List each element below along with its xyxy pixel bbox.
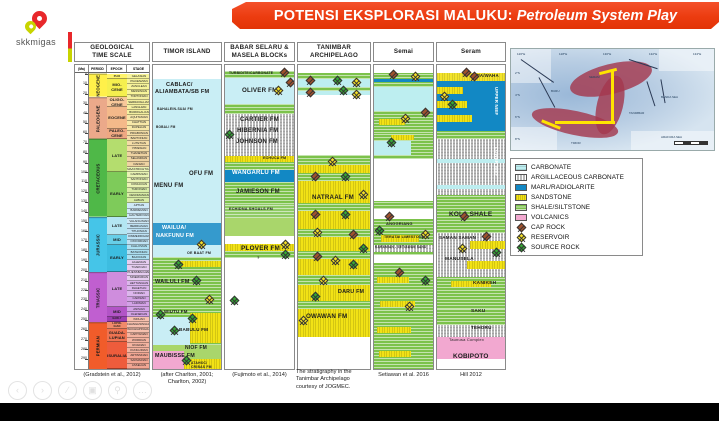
unit-label: UPPER NIEF	[494, 87, 499, 115]
seram-column: FUFA/WAHA UPPER NIEF LOWER NIEF KOLA SHA…	[436, 64, 506, 370]
unit-label: TERATAI LIMESTONE	[384, 235, 424, 239]
legend-label: SHALE/SILTSTONE	[531, 204, 590, 211]
timescale-tick	[85, 231, 88, 232]
unit-label: KOBIPOTO	[453, 353, 489, 360]
timescale-epoch: MID	[107, 235, 127, 245]
unit-label: BOBALI FM	[156, 125, 176, 129]
more-button[interactable]: …	[133, 381, 152, 400]
map-label: ARAFURA SEA	[661, 135, 682, 139]
title-main: POTENSI EKSPLORASI MALUKU:	[274, 8, 513, 24]
timescale-period: PERMIAN	[89, 322, 107, 369]
unit-label: ALIAMBATA/SB FM	[155, 89, 209, 95]
legend-symbol-source-rock-icon	[516, 242, 526, 252]
timescale-tick	[85, 113, 88, 114]
timescale-tick	[85, 143, 88, 144]
unit-label: ?	[257, 255, 260, 260]
accent-bar	[68, 32, 72, 62]
unit-label: HIBERNIA FM	[237, 128, 278, 134]
save-button[interactable]: ▣	[83, 381, 102, 400]
timescale-epoch: GUADA-LUPIAN	[107, 329, 127, 343]
timescale-period: CRETACEOUS	[89, 139, 107, 217]
legend-row: VOLCANICS	[515, 212, 638, 222]
timescale-epoch: EARLY	[107, 172, 127, 216]
timescale-tick	[85, 261, 88, 262]
unit-label: DARU FM	[338, 289, 364, 295]
map-label: 132°E	[649, 52, 657, 56]
map-label: BANDA SEA	[661, 95, 678, 99]
legend-symbol-group: CAP ROCKRESERVOIRSOURCE ROCK	[515, 222, 638, 252]
timescale-tick	[85, 94, 88, 95]
timescale-epochs: PLIOMIO-CENEOLIGO-CENEEOCENEPALEO-CENELA…	[107, 65, 127, 369]
unit-label: WIUTU FM	[164, 309, 188, 314]
slide-title-banner: POTENSI EKSPLORASI MALUKU: Petroleum Sys…	[232, 2, 719, 29]
unit-label: NATRAAL FM	[312, 194, 354, 201]
timescale-period: NEOGENE	[89, 74, 107, 97]
timescale-epoch: PALEO-CENE	[107, 129, 127, 139]
timescale-period: PALEOGENE	[89, 97, 107, 139]
timescale-periods: NEOGENEPALEOGENECRETACEOUSJURASSICTRIASS…	[89, 65, 107, 369]
legend-row: SOURCE ROCK	[515, 242, 638, 252]
legend-symbol-reservoir-icon	[516, 232, 526, 242]
map-label: 2°S	[515, 71, 520, 75]
timescale-stages: GELASIANPIACENZIANZANCLEANMESSINIANTORTO…	[127, 65, 150, 369]
unit-label: OWAWAN FM	[306, 313, 347, 320]
timescale-tick	[85, 251, 88, 252]
logo-pins	[10, 10, 62, 36]
pen-button[interactable]: ∕	[58, 381, 77, 400]
timescale-tick	[85, 84, 88, 85]
unit-label: WANGARLU FM	[232, 170, 280, 176]
babar-selaru-column: TURBIDITE/CARBONATE OLIVER FM CARTIER FM…	[224, 64, 295, 370]
timescale-stage: ASSELIAN	[127, 364, 150, 369]
legend-label: SANDSTONE	[531, 194, 572, 201]
unit-label: LOWER NIEF	[494, 147, 499, 177]
legend-row: ARGILLACEOUS CARBONATE	[515, 172, 638, 182]
map-shelf	[659, 49, 715, 71]
timescale-tick	[85, 281, 88, 282]
timescale-tick	[85, 182, 88, 183]
timescale-tick	[85, 133, 88, 134]
timescale-tick	[85, 212, 88, 213]
title-italic: Petroleum System Play	[517, 8, 677, 24]
unit-label: NAKFUNU FM	[156, 233, 194, 239]
timescale-period: JURASSIC	[89, 217, 107, 272]
unit-label: MENU FM	[154, 183, 183, 189]
legend-label: SOURCE ROCK	[531, 244, 580, 251]
map-label: 126°E	[517, 52, 525, 56]
legend-swatch	[515, 194, 527, 201]
map-label: 6°S	[515, 115, 520, 119]
timescale-axis: 0102030405060708090100110120130140150160…	[75, 65, 89, 369]
regional-location-map: 126°E128°E130°E132°E134°E2°S4°S6°S8°SSER…	[510, 48, 715, 151]
timescale-tick	[85, 320, 88, 321]
legend-swatch	[515, 164, 527, 171]
column-header-babar: BABAR SELARU &MASELA BLOCKs	[224, 42, 295, 62]
timescale-epoch: EOCENE	[107, 107, 127, 129]
unit-label: BAHALEIN-SUAI FM	[157, 107, 193, 111]
column-header-tanimbar: TANIMBARARCHIPELAGO	[297, 42, 371, 62]
legend-swatch	[515, 174, 527, 181]
unit-label: TEHORU	[471, 325, 492, 330]
map-label: 130°E	[603, 52, 611, 56]
timescale-epoch: EARLY	[107, 245, 127, 272]
unit-label: JOHNSON FM	[236, 139, 278, 145]
legend-symbol-cap-rock-icon	[516, 222, 526, 232]
skkmigas-logo: skkmigas	[10, 10, 62, 47]
timescale-epoch: LATE	[107, 139, 127, 172]
timescale-tick	[85, 271, 88, 272]
map-label: 4°S	[515, 93, 520, 97]
legend-row: RESERVOIR	[515, 232, 638, 242]
timescale-tick	[85, 202, 88, 203]
logo-text: skkmigas	[10, 37, 62, 47]
unit-label: Taunusa Complex	[449, 337, 484, 342]
legend-label: VOLCANICS	[531, 214, 569, 221]
unit-label: WAILUA/	[162, 225, 186, 231]
timescale-tick	[85, 153, 88, 154]
unit-label: KANIKEH	[473, 281, 496, 286]
unit-label: MANUSELA	[445, 257, 474, 262]
legend-row: CARBONATE	[515, 162, 638, 172]
slide-root: skkmigas POTENSI EKSPLORASI MALUKU: Petr…	[0, 0, 719, 421]
unit-label: CABLAC/	[166, 82, 193, 88]
legend-label: MARL/RADIOLARITE	[531, 184, 595, 191]
timescale-epoch: MID	[107, 307, 127, 317]
timescale-subheader: (Ma)	[75, 65, 89, 72]
timescale-tick	[85, 340, 88, 341]
geological-time-scale-column: 0102030405060708090100110120130140150160…	[74, 64, 150, 370]
semai-column: ANGGRIANG TERATAI LIMESTONE KARAMIAN - S…	[373, 64, 434, 370]
timescale-tick	[85, 123, 88, 124]
timescale-epoch: MIO-CENE	[107, 79, 127, 96]
timescale-epoch: LATE	[107, 217, 127, 236]
map-label: TIMOR	[571, 141, 581, 145]
unit-label: OLIVER FM	[242, 87, 278, 94]
unit-label: OFU FM	[189, 171, 213, 177]
timescale-epoch: CISURALIAN	[107, 342, 127, 369]
timescale-subheader: STAGE	[127, 65, 150, 72]
legend-lithology-group: CARBONATEARGILLACEOUS CARBONATEMARL/RADI…	[515, 162, 638, 222]
unit-label: ECHUCA FM	[263, 156, 286, 160]
unit-label: KOLA SHALE	[449, 211, 492, 218]
bottom-bar	[0, 403, 719, 421]
unit-label: SAKU	[471, 309, 485, 314]
unit-label: TURBIDITE/CARBONATE	[229, 71, 273, 75]
timescale-period: TRIASSIC	[89, 272, 107, 322]
legend-row: SHALE/SILTSTONE	[515, 202, 638, 212]
unit-label: PLOVER FM	[241, 245, 280, 252]
map-scale-bar	[674, 141, 708, 145]
timescale-tick	[85, 74, 88, 75]
timescale-epoch: LATE	[107, 272, 127, 307]
legend-label: ARGILLACEOUS CARBONATE	[531, 174, 624, 181]
timescale-tick	[85, 192, 88, 193]
transect-line	[611, 71, 614, 121]
legend-swatch	[515, 184, 527, 191]
viewer-toolbar[interactable]: ‹›∕▣⚲…	[0, 377, 719, 403]
tanimbar-archipelago-column: NATRAAL FM DARU FM OWAWAN FM	[297, 64, 371, 370]
timescale-subheader: PERIOD	[89, 65, 107, 72]
timescale-tick	[85, 330, 88, 331]
column-header-timor: TIMOR ISLAND	[152, 42, 222, 62]
timescale-tick	[85, 104, 88, 105]
legend-label: RESERVOIR	[531, 234, 569, 241]
legend-row: CAP ROCK	[515, 222, 638, 232]
timescale-tick	[85, 163, 88, 164]
back-button[interactable]: ‹	[8, 381, 27, 400]
column-header-seram: Seram	[436, 42, 506, 62]
timor-island-column: CABLAC/ ALIAMBATA/SB FM BAHALEIN-SUAI FM…	[152, 64, 222, 370]
timescale-tick	[85, 172, 88, 173]
legend-swatch	[515, 204, 527, 211]
map-label: TANIMBAR	[629, 111, 644, 115]
unit-label: ANGGRIANG	[386, 221, 413, 226]
timescale-epoch: LOPIN-GIAN	[107, 322, 127, 329]
column-header-semai: Semai	[373, 42, 434, 62]
forward-button[interactable]: ›	[33, 381, 52, 400]
unit-label: OE BAAT FM	[187, 251, 211, 255]
map-label: BURU	[551, 89, 560, 93]
unit-label: KARAMIAN - SETIAWAN SAND	[375, 245, 427, 249]
unit-label: ECHIDNA SHOALS FM	[229, 207, 273, 211]
unit-label: NIOF FM	[185, 345, 207, 351]
legend-swatch	[515, 214, 527, 221]
unit-label: WAILULI FM	[155, 279, 190, 285]
timescale-tick	[85, 241, 88, 242]
map-label: 8°S	[515, 137, 520, 141]
map-label: SERAM	[589, 75, 600, 79]
legend-row: SANDSTONE	[515, 192, 638, 202]
legend-label: CARBONATE	[531, 164, 571, 171]
timescale-tick	[85, 349, 88, 350]
column-header-timescale: GEOLOGICALTIME SCALE	[74, 42, 150, 62]
map-label: 134°E	[693, 52, 701, 56]
legend-row: MARL/RADIOLARITE	[515, 182, 638, 192]
timescale-tick	[85, 290, 88, 291]
zoom-button[interactable]: ⚲	[108, 381, 127, 400]
unit-label: CARTIER FM	[240, 117, 279, 123]
unit-label: SAMAN SAMAN	[439, 235, 476, 240]
timescale-tick	[85, 310, 88, 311]
transect-line	[555, 121, 615, 124]
timescale-tick	[85, 300, 88, 301]
unit-label: JAMIESON FM	[236, 189, 280, 195]
lithology-legend: CARBONATEARGILLACEOUS CARBONATEMARL/RADI…	[510, 158, 643, 256]
timescale-tick	[85, 359, 88, 360]
timescale-subheader: EPOCH	[107, 65, 127, 72]
map-label: 128°E	[559, 52, 567, 56]
unit-label: CRIBAS FM	[191, 365, 212, 369]
legend-label: CAP ROCK	[531, 224, 565, 231]
unit-label: BABULU FM	[179, 327, 208, 332]
timescale-epoch: OLIGO-CENE	[107, 97, 127, 108]
timescale-tick	[85, 222, 88, 223]
